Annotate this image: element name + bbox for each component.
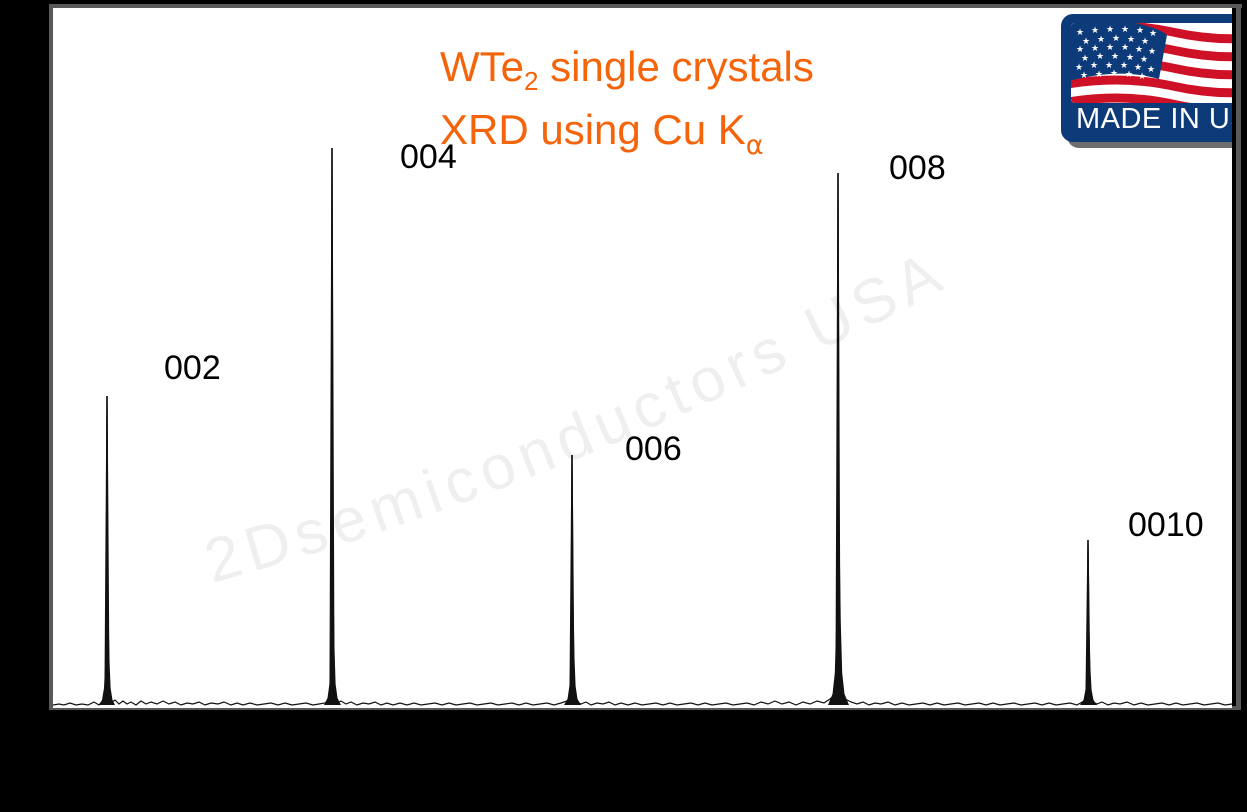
title-line1-prefix: WTe	[440, 43, 524, 90]
xrd-plot-area: 2Dsemiconductors USA WTe2 single crystal…	[53, 8, 1232, 708]
title-line1-subscript: 2	[524, 66, 538, 96]
figure-title: WTe2 single crystals XRD using Cu Kα	[440, 38, 814, 165]
svg-text:★: ★	[1148, 47, 1156, 57]
peak-0010	[1080, 540, 1097, 705]
svg-text:★: ★	[1095, 70, 1103, 80]
peak-label-002: 002	[164, 349, 221, 388]
svg-text:★: ★	[1080, 71, 1088, 81]
svg-text:★: ★	[1110, 69, 1118, 79]
badge-plate: ★★★ ★★★ ★★★ ★★ ★★★ ★★★ ★★★ ★★ ★★★ ★★★ ★★	[1061, 14, 1232, 142]
baseline-noise	[53, 148, 1232, 705]
peak-006	[564, 455, 581, 705]
made-in-usa-badge: ★★★ ★★★ ★★★ ★★ ★★★ ★★★ ★★★ ★★ ★★★ ★★★ ★★	[1061, 14, 1232, 142]
svg-text:★: ★	[1125, 70, 1133, 80]
peak-label-004: 004	[400, 138, 457, 177]
title-line2-prefix: XRD using Cu K	[440, 106, 746, 153]
svg-text:★: ★	[1138, 72, 1146, 82]
peak-label-008: 008	[889, 149, 946, 188]
svg-text:★: ★	[1147, 65, 1155, 75]
peak-002	[99, 396, 115, 705]
us-flag-waving-svg: ★★★ ★★★ ★★★ ★★ ★★★ ★★★ ★★★ ★★ ★★★ ★★★ ★★	[1071, 23, 1232, 103]
peak-004	[324, 148, 341, 705]
title-line-2: XRD using Cu Kα	[440, 101, 814, 165]
peak-008	[828, 173, 849, 705]
svg-text:★: ★	[1136, 26, 1144, 36]
svg-text:★: ★	[1135, 45, 1143, 55]
svg-text:★: ★	[1121, 43, 1129, 53]
svg-text:★: ★	[1149, 29, 1157, 39]
svg-text:★: ★	[1121, 25, 1129, 35]
peak-label-006: 006	[625, 430, 682, 469]
title-line1-suffix: single crystals	[538, 43, 813, 90]
figure-frame-right	[1236, 4, 1241, 710]
us-flag-icon: ★★★ ★★★ ★★★ ★★ ★★★ ★★★ ★★★ ★★ ★★★ ★★★ ★★	[1071, 23, 1232, 103]
peak-label-0010: 0010	[1128, 506, 1204, 545]
screenshot-root: 2Dsemiconductors USA WTe2 single crystal…	[0, 0, 1247, 812]
title-line-1: WTe2 single crystals	[440, 38, 814, 101]
title-line2-subscript-alpha: α	[746, 130, 764, 161]
badge-caption: MADE IN USA	[1061, 102, 1232, 136]
